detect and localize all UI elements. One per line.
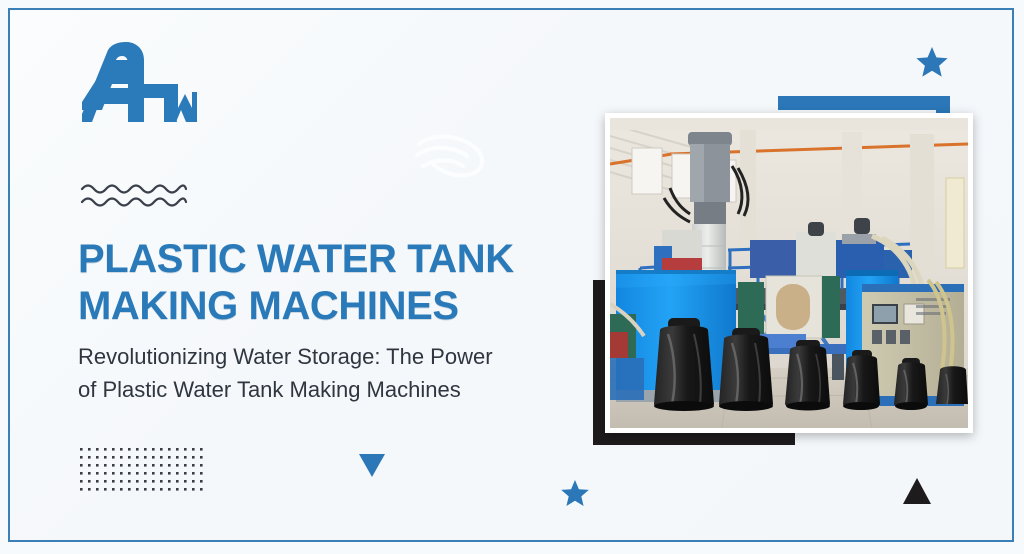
page-title: PLASTIC WATER TANK MAKING MACHINES xyxy=(78,236,598,330)
page-subtitle: Revolutionizing Water Storage: The Power… xyxy=(78,340,588,406)
machine-photo xyxy=(605,113,973,433)
headline-line-1: PLASTIC WATER TANK xyxy=(78,237,514,281)
machine-photo-image xyxy=(610,118,968,428)
subtitle-line-2: of Plastic Water Tank Making Machines xyxy=(78,373,588,406)
black-triangle-up-icon xyxy=(902,477,932,505)
wave-lines-decoration xyxy=(80,180,188,212)
photo-block xyxy=(575,88,975,458)
blue-triangle-down-icon xyxy=(358,452,386,478)
blue-star-icon xyxy=(915,45,949,79)
hero-banner: PLASTIC WATER TANK MAKING MACHINES Revol… xyxy=(0,0,1024,554)
water-swoosh-decoration xyxy=(415,128,510,183)
blue-star-icon xyxy=(560,478,590,508)
aw-logo[interactable] xyxy=(82,40,197,140)
dot-grid-decoration xyxy=(80,448,204,496)
subtitle-line-1: Revolutionizing Water Storage: The Power xyxy=(78,344,493,369)
headline-line-2: MAKING MACHINES xyxy=(78,283,598,330)
